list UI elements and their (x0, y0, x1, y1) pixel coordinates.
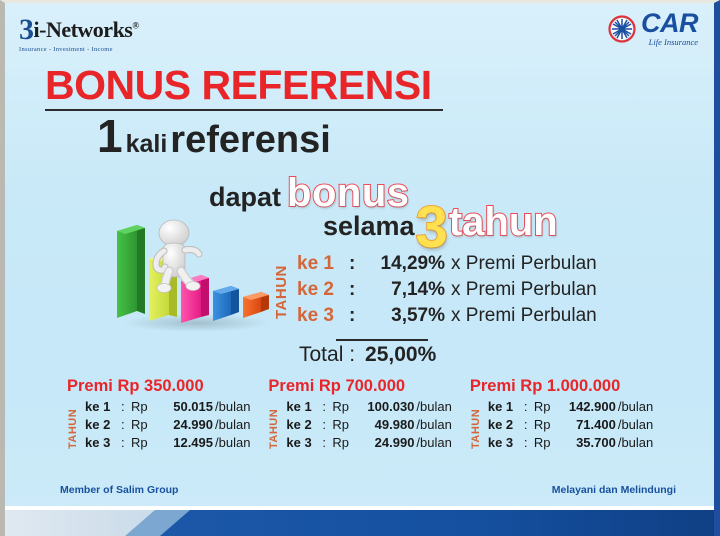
row-amount: 71.400 (554, 417, 616, 432)
bar-chart-illustration (111, 211, 281, 331)
footer-decorative-bar (5, 506, 714, 536)
row-year-label: ke 3 (488, 435, 524, 450)
row-year-label: ke 3 (85, 435, 121, 450)
row-year-label: ke 3 (297, 305, 349, 327)
list-item: ke 1 : Rp 50.015 /bulan (85, 399, 250, 417)
row-percent-value: 14,29% (363, 253, 451, 275)
page-title: BONUS REFERENSI (45, 65, 443, 106)
premium-column-350000: Premi Rp 350.000 TAHUN ke 1 : Rp 50.015 … (67, 377, 250, 453)
row-currency: Rp (332, 399, 352, 414)
row-colon: : (524, 399, 534, 414)
list-item: ke 1 : Rp 142.900 /bulan (488, 399, 653, 417)
3i-networks-logo-wordmark: 3i-Networks® (19, 15, 169, 45)
row-amount: 35.700 (554, 435, 616, 450)
row-year-label: ke 2 (85, 417, 121, 432)
3i-logo-name: i-Networks (34, 17, 133, 42)
total-label: Total : (299, 343, 355, 366)
row-currency: Rp (534, 435, 554, 450)
row-amount: 24.990 (352, 435, 414, 450)
footer-right-text: Melayani dan Melindungi (552, 484, 676, 496)
list-item: ke 2 : Rp 49.980 /bulan (286, 417, 451, 435)
row-year-label: ke 2 (488, 417, 524, 432)
row-amount: 142.900 (554, 399, 616, 414)
row-amount: 49.980 (352, 417, 414, 432)
row-year-label: ke 1 (286, 399, 322, 414)
row-year-label: ke 1 (297, 253, 349, 275)
premium-column-rows: ke 1 : Rp 100.030 /bulan ke 2 : Rp 49.98… (286, 399, 451, 453)
premium-column-rows: ke 1 : Rp 50.015 /bulan ke 2 : Rp 24.990… (85, 399, 250, 453)
row-year-label: ke 1 (85, 399, 121, 414)
total-value: 25,00% (365, 343, 436, 366)
row-currency: Rp (534, 417, 554, 432)
3i-logo-tagline: Insurance - Investment - Income (19, 46, 169, 53)
premium-column-1000000: Premi Rp 1.000.000 TAHUN ke 1 : Rp 142.9… (470, 377, 653, 453)
row-colon: : (349, 305, 363, 327)
premium-column-vertical-label: TAHUN (67, 401, 79, 456)
percentage-table-rows: ke 1 : 14,29% x Premi Perbulan ke 2 : 7,… (297, 253, 597, 331)
headline-line-1: 1kalireferensi (97, 113, 331, 159)
list-item: ke 2 : Rp 24.990 /bulan (85, 417, 250, 435)
car-brand-word: CAR (641, 11, 698, 37)
row-amount: 24.990 (151, 417, 213, 432)
row-colon: : (121, 417, 131, 432)
premium-column-heading: Premi Rp 350.000 (67, 377, 250, 396)
car-brand-subtitle: Life Insurance (641, 38, 698, 47)
row-colon: : (121, 435, 131, 450)
headline-number-one: 1 (97, 110, 123, 162)
row-formula-text: x Premi Perbulan (451, 279, 597, 301)
footer-left-text: Member of Salim Group (60, 484, 178, 496)
premium-examples: Premi Rp 350.000 TAHUN ke 1 : Rp 50.015 … (67, 377, 697, 453)
premium-column-rows: ke 1 : Rp 142.900 /bulan ke 2 : Rp 71.40… (488, 399, 653, 453)
table-row: ke 3 : 3,57% x Premi Perbulan (297, 305, 597, 331)
row-currency: Rp (332, 435, 352, 450)
headline-kali: kali (123, 130, 171, 158)
row-formula-text: x Premi Perbulan (451, 253, 597, 275)
slide-canvas: 3i-Networks® Insurance - Investment - In… (0, 0, 720, 536)
slide-header: 3i-Networks® Insurance - Investment - In… (5, 3, 714, 61)
row-unit: /bulan (414, 399, 451, 414)
row-year-label: ke 3 (286, 435, 322, 450)
row-amount: 100.030 (352, 399, 414, 414)
row-colon: : (322, 435, 332, 450)
row-currency: Rp (131, 435, 151, 450)
row-amount: 50.015 (151, 399, 213, 414)
car-sunburst-emblem-icon (608, 15, 636, 43)
row-currency: Rp (131, 417, 151, 432)
row-unit: /bulan (213, 435, 250, 450)
row-currency: Rp (534, 399, 554, 414)
total-row: Total :25,00% (299, 343, 436, 367)
headline-big-number-three: 3 (416, 195, 448, 260)
row-currency: Rp (332, 417, 352, 432)
headline-selama: selama (323, 211, 415, 241)
row-colon: : (524, 417, 534, 432)
row-percent-value: 7,14% (363, 279, 451, 301)
row-colon: : (349, 279, 363, 301)
row-currency: Rp (131, 399, 151, 414)
car-brand-text: CAR Life Insurance (641, 11, 698, 46)
footer-text-row: Member of Salim Group Melayani dan Melin… (5, 484, 714, 502)
row-year-label: ke 1 (488, 399, 524, 414)
list-item: ke 3 : Rp 35.700 /bulan (488, 435, 653, 453)
row-unit: /bulan (213, 417, 250, 432)
list-item: ke 1 : Rp 100.030 /bulan (286, 399, 451, 417)
headline-referensi: referensi (170, 119, 331, 161)
list-item: ke 3 : Rp 24.990 /bulan (286, 435, 451, 453)
registered-mark-icon: ® (132, 21, 138, 31)
car-life-insurance-logo: CAR Life Insurance (608, 11, 698, 46)
row-colon: : (322, 399, 332, 414)
table-row: ke 2 : 7,14% x Premi Perbulan (297, 279, 597, 305)
row-year-label: ke 2 (297, 279, 349, 301)
3i-logo-numeral: 3 (19, 13, 34, 46)
premium-column-vertical-label: TAHUN (470, 401, 482, 456)
row-colon: : (524, 435, 534, 450)
headline-tahun: tahun (449, 200, 558, 244)
row-unit: /bulan (414, 417, 451, 432)
3i-networks-logo: 3i-Networks® Insurance - Investment - In… (19, 15, 169, 53)
row-unit: /bulan (414, 435, 451, 450)
row-colon: : (349, 253, 363, 275)
percentage-table-vertical-label: TAHUN (273, 255, 290, 329)
row-unit: /bulan (616, 399, 653, 414)
list-item: ke 3 : Rp 12.495 /bulan (85, 435, 250, 453)
row-unit: /bulan (213, 399, 250, 414)
row-colon: : (322, 417, 332, 432)
premium-column-heading: Premi Rp 700.000 (268, 377, 451, 396)
row-formula-text: x Premi Perbulan (451, 305, 597, 327)
row-unit: /bulan (616, 417, 653, 432)
row-unit: /bulan (616, 435, 653, 450)
row-amount: 12.495 (151, 435, 213, 450)
premium-column-700000: Premi Rp 700.000 TAHUN ke 1 : Rp 100.030… (268, 377, 451, 453)
row-year-label: ke 2 (286, 417, 322, 432)
premium-column-heading: Premi Rp 1.000.000 (470, 377, 653, 396)
headline-dapat: dapat (209, 182, 281, 212)
percentage-table: TAHUN ke 1 : 14,29% x Premi Perbulan ke … (273, 253, 597, 331)
headline-line-3: selama3tahun (323, 199, 558, 257)
table-row: ke 1 : 14,29% x Premi Perbulan (297, 253, 597, 279)
list-item: ke 2 : Rp 71.400 /bulan (488, 417, 653, 435)
page-title-block: BONUS REFERENSI (45, 65, 443, 111)
row-colon: : (121, 399, 131, 414)
premium-column-vertical-label: TAHUN (268, 401, 280, 456)
total-separator-line (336, 339, 428, 341)
row-percent-value: 3,57% (363, 305, 451, 327)
